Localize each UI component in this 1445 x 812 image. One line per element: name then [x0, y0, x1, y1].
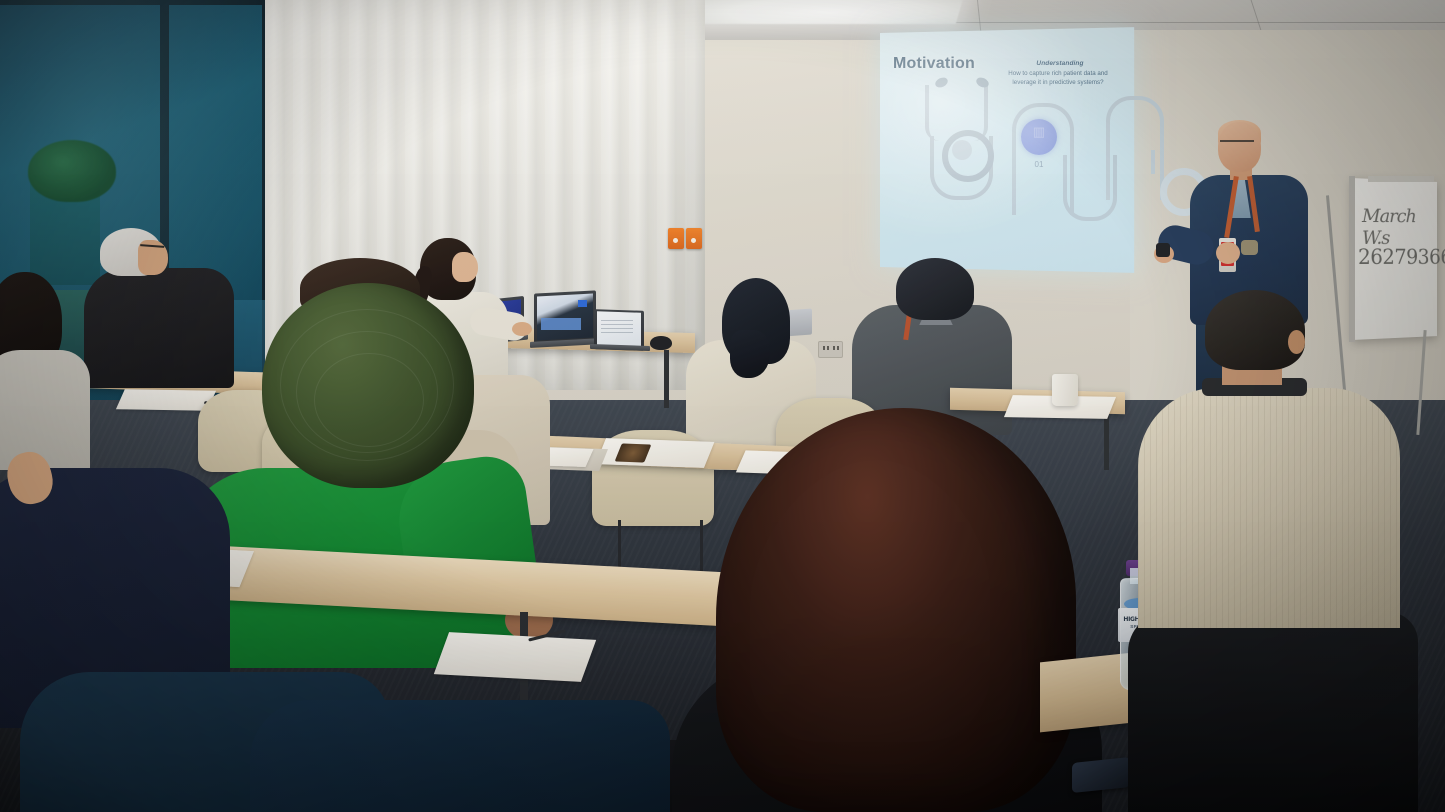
conference-room-photo: ▥ 01 Motivation Understanding How to cap… [0, 0, 1445, 812]
stethoscope-left-arm-icon [925, 85, 951, 141]
attendee-cream-sweater-lower [1128, 612, 1418, 812]
computer-mouse[interactable] [650, 336, 672, 350]
attendee-far-left-body [0, 350, 90, 470]
table-leg [1104, 410, 1109, 470]
fire-alarm-call-point-1[interactable] [668, 228, 684, 249]
attendee-ponytail-hand [512, 322, 532, 336]
presenter-right-hand [1216, 242, 1240, 264]
attendee-ponytail-face [452, 252, 478, 282]
attendee-white-haired-body [84, 268, 234, 388]
attendee-long-hair [716, 408, 1076, 812]
stethoscope-bell-inner-icon [952, 140, 972, 160]
ceiling-light-panel [696, 0, 965, 24]
attendee-cream-sweater-ear [1288, 330, 1305, 354]
flipchart-handwriting-line1: March W.s [1362, 205, 1438, 249]
potted-plant [28, 140, 116, 202]
attendee-hijab-drape [730, 330, 770, 378]
stethoscope-wire-segment-3 [1106, 96, 1164, 200]
presenter-eyeglasses-icon [1220, 140, 1254, 149]
attendee-cream-sweater-ribbing [1138, 388, 1400, 628]
paper-cup[interactable] [1052, 374, 1078, 406]
presentation-clicker[interactable] [1156, 243, 1170, 257]
flipchart-clip [1368, 176, 1434, 182]
wall-power-socket[interactable] [818, 341, 843, 358]
fire-alarm-call-point-2[interactable] [686, 228, 702, 249]
slide-subtitle-body: How to capture rich patient data and lev… [1000, 70, 1116, 87]
presenter-wristwatch [1241, 240, 1258, 255]
attendee-grey-suit-hair [896, 258, 974, 320]
laptop-3-document-lines [601, 320, 633, 334]
paper-sheet [596, 438, 715, 468]
flipchart-edge [1349, 176, 1355, 342]
attendee-green-headwrap [262, 283, 474, 488]
laptop-2-screen-content-bar [541, 318, 581, 330]
flipchart-handwriting-line2: 26279366 [1358, 245, 1445, 269]
slide-step-number: 01 [1021, 160, 1057, 169]
laptop-2-screen-accent [578, 300, 587, 307]
eyeglasses-icon [140, 244, 164, 254]
coat-draped-foreground-2 [250, 700, 670, 812]
stethoscope-ring-stem [1151, 150, 1155, 174]
smartphone[interactable] [1072, 757, 1130, 793]
table-leg [664, 350, 669, 408]
slide-title: Motivation [893, 55, 975, 73]
slide-badge-icon: ▥ [1021, 124, 1057, 140]
paper-sheet [434, 632, 596, 682]
slide-subtitle-heading: Understanding [1012, 60, 1108, 67]
attendee-cream-sweater-hair [1205, 290, 1305, 370]
chair-leg [700, 520, 703, 578]
